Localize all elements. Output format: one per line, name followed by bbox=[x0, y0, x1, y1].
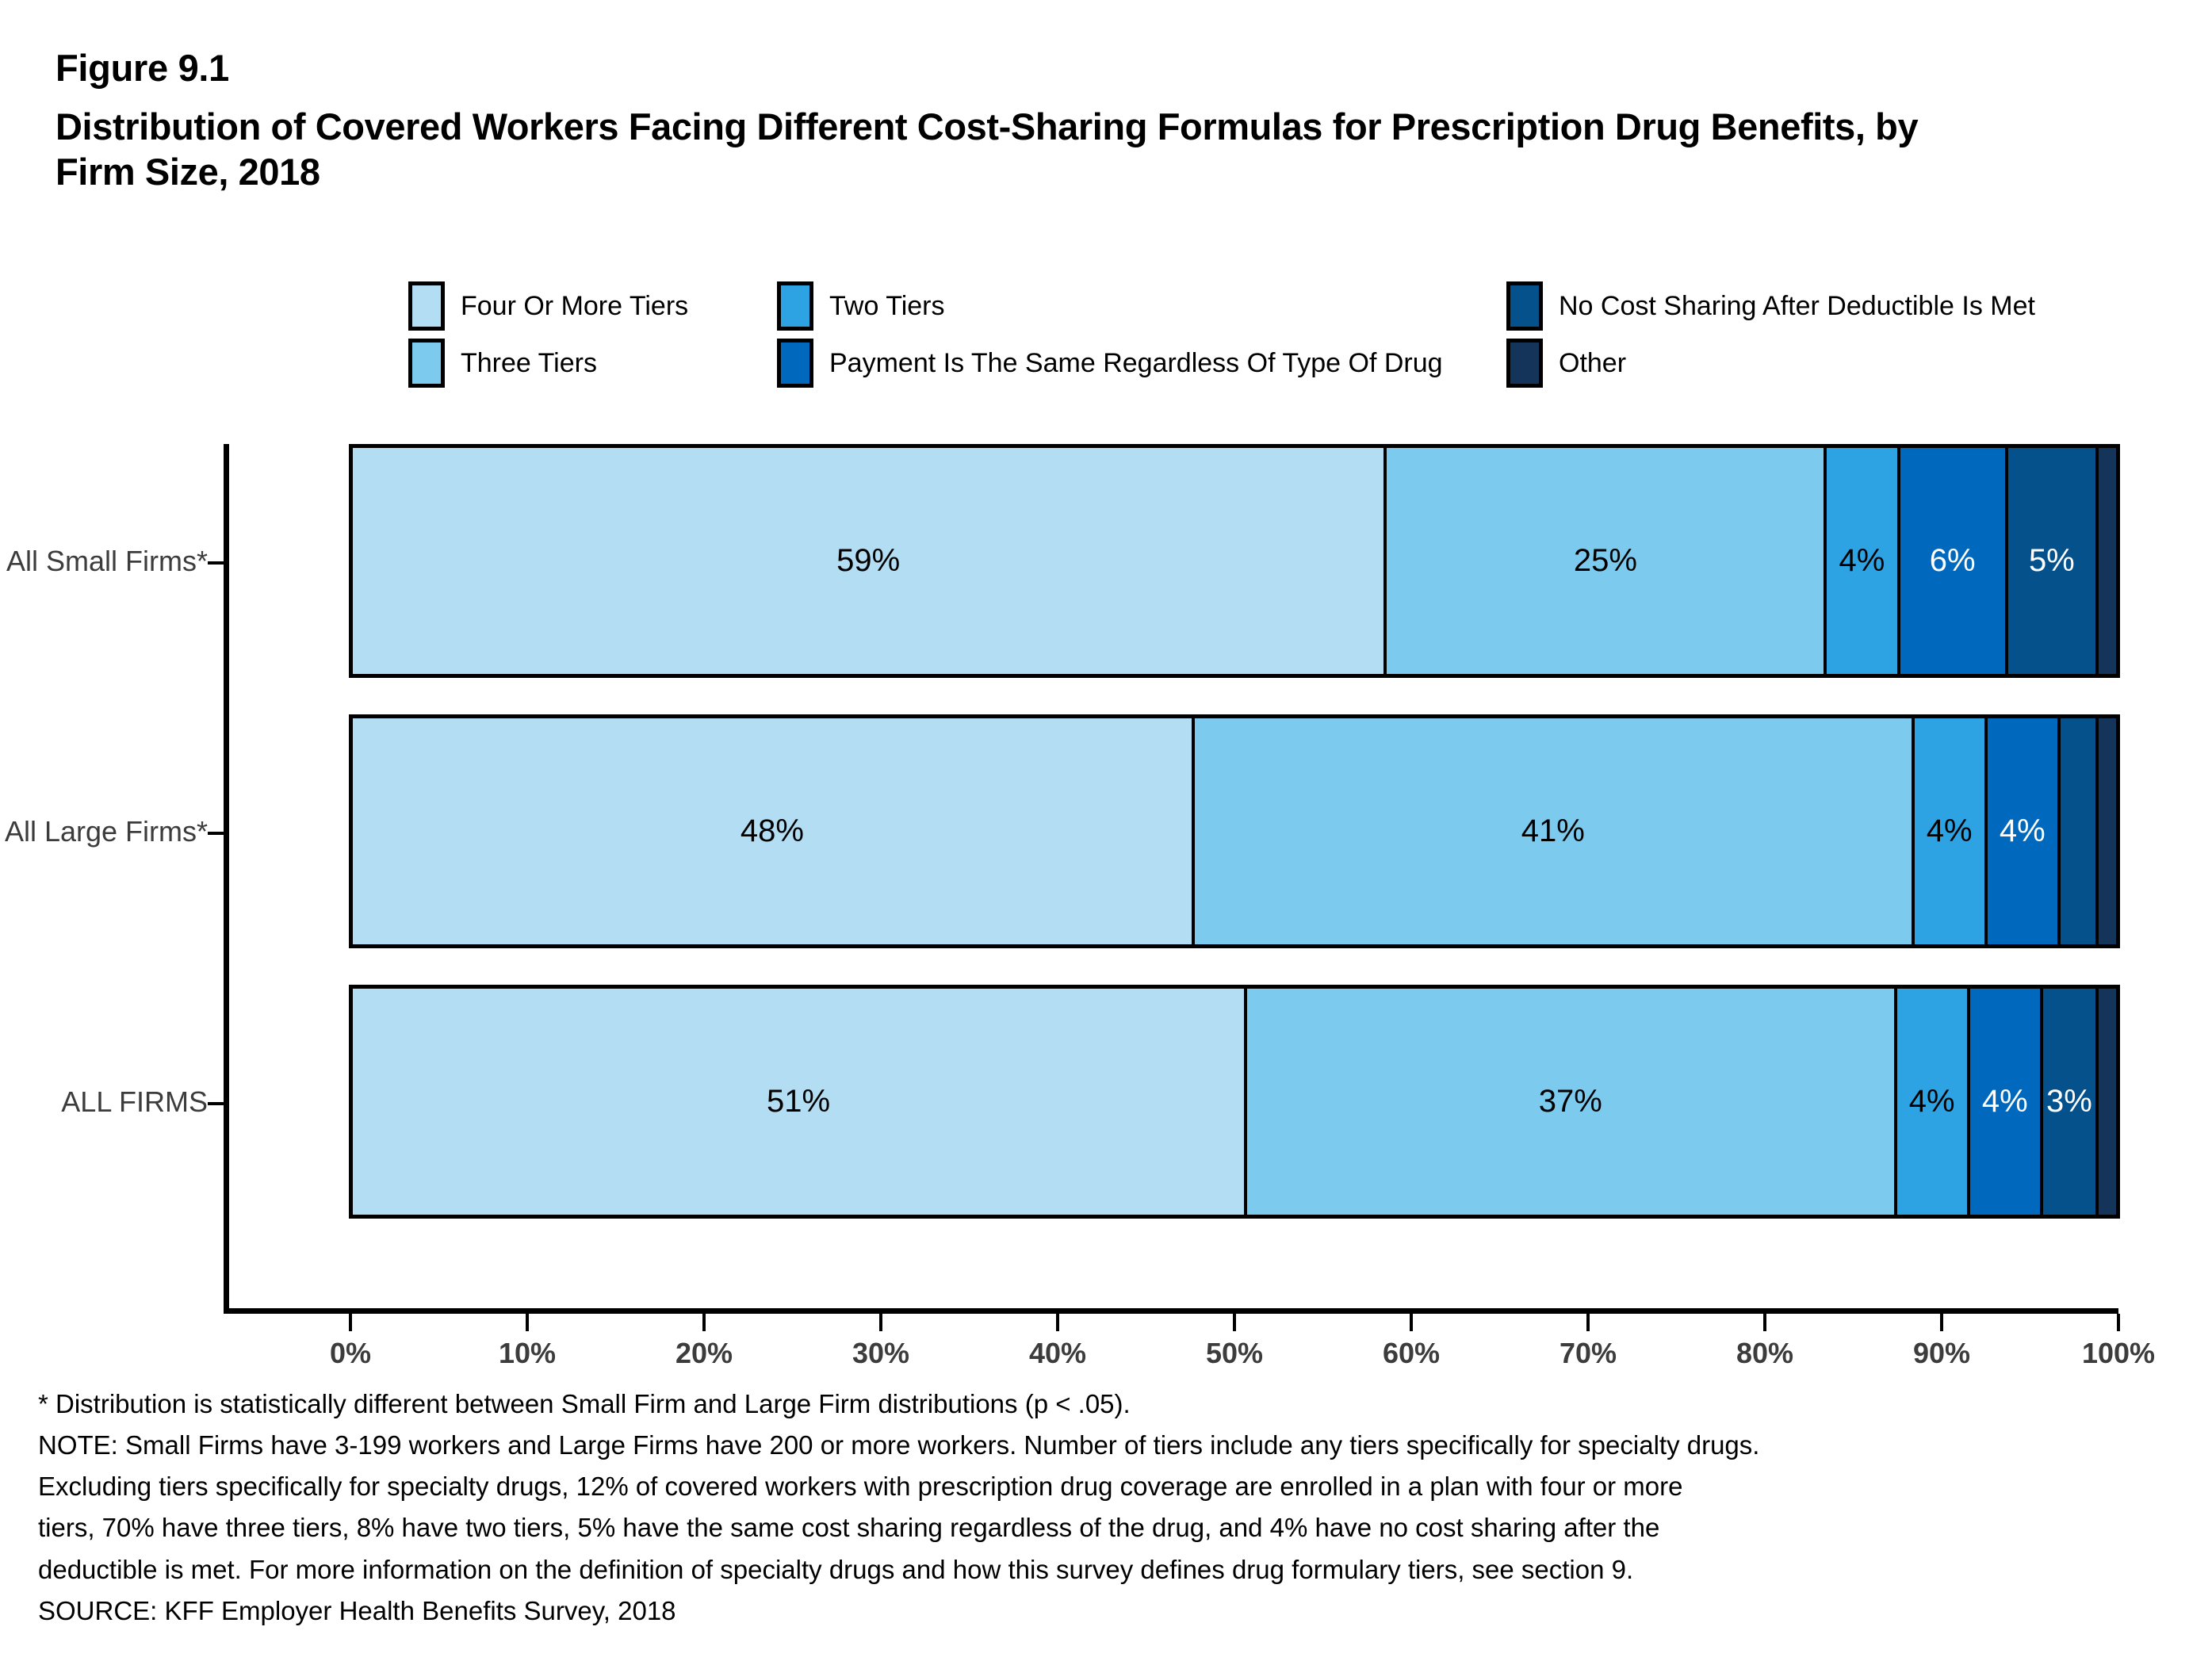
x-axis-line bbox=[224, 1308, 2118, 1314]
bar-segment: 6% bbox=[1900, 448, 2008, 674]
bar-segment-value-label: 59% bbox=[836, 543, 900, 579]
x-axis-tick-label: 90% bbox=[1913, 1337, 1970, 1370]
legend-item[interactable]: Four Or More Tiers bbox=[408, 281, 777, 331]
legend-swatch-icon bbox=[777, 339, 813, 388]
bar-segment: 4% bbox=[1827, 448, 1900, 674]
bar-segment-value-label: 51% bbox=[767, 1084, 830, 1120]
bar-segment: 4% bbox=[1897, 989, 1970, 1215]
x-axis-tick bbox=[1410, 1314, 1413, 1331]
bar-segment: 37% bbox=[1247, 989, 1896, 1215]
footnote-note-4: deductible is met. For more information … bbox=[38, 1549, 2179, 1590]
bar-segment-value-label: 4% bbox=[1927, 813, 1973, 849]
chart-plot-area: All Small Firms*59%25%4%6%5%All Large Fi… bbox=[0, 428, 2212, 1300]
y-axis-category-label: All Large Firms* bbox=[5, 815, 208, 848]
bar-segment-value-label: 4% bbox=[1909, 1084, 1955, 1120]
bar-segment bbox=[2099, 989, 2116, 1215]
stacked-bar: 59%25%4%6%5% bbox=[349, 444, 2120, 678]
x-axis-tick bbox=[1586, 1314, 1590, 1331]
bar-segment-value-label: 4% bbox=[1982, 1084, 2028, 1120]
legend-item-label: Four Or More Tiers bbox=[461, 281, 688, 331]
legend-item[interactable]: No Cost Sharing After Deductible Is Met bbox=[1506, 281, 2109, 331]
bar-segment-value-label: 48% bbox=[741, 813, 804, 849]
x-axis-tick-label: 10% bbox=[499, 1337, 556, 1370]
bar-segment bbox=[2099, 718, 2116, 944]
x-axis-tick-label: 50% bbox=[1206, 1337, 1263, 1370]
bar-segment: 4% bbox=[1970, 989, 2043, 1215]
x-axis-tick bbox=[526, 1314, 529, 1331]
x-axis-tick-label: 0% bbox=[330, 1337, 371, 1370]
bar-segment-value-label: 6% bbox=[1930, 543, 1976, 579]
legend-swatch-icon bbox=[777, 281, 813, 331]
y-axis-tick bbox=[208, 1102, 225, 1105]
bar-segment-value-label: 3% bbox=[2046, 1084, 2092, 1120]
legend-item[interactable]: Two Tiers bbox=[777, 281, 1506, 331]
bar-segment: 3% bbox=[2043, 989, 2099, 1215]
y-axis-line bbox=[224, 444, 229, 1312]
legend-item-label: Other bbox=[1559, 339, 1626, 388]
bar-segment-value-label: 4% bbox=[2000, 813, 2046, 849]
bar-segment-value-label: 5% bbox=[2029, 543, 2075, 579]
figure-number: Figure 9.1 bbox=[55, 49, 2117, 86]
bar-segment: 4% bbox=[1988, 718, 2061, 944]
x-axis-tick-label: 30% bbox=[852, 1337, 909, 1370]
footnote-note-1: NOTE: Small Firms have 3-199 workers and… bbox=[38, 1425, 2179, 1466]
x-axis-tick-label: 80% bbox=[1736, 1337, 1793, 1370]
x-axis-tick bbox=[1233, 1314, 1236, 1331]
bar-segment-value-label: 25% bbox=[1574, 543, 1637, 579]
footnote-significance: * Distribution is statistically differen… bbox=[38, 1384, 2179, 1425]
bar-segment: 4% bbox=[1915, 718, 1988, 944]
stacked-bar: 51%37%4%4%3% bbox=[349, 985, 2120, 1219]
y-axis-category-label: ALL FIRMS bbox=[61, 1085, 208, 1119]
legend-item-label: Three Tiers bbox=[461, 339, 597, 388]
bar-segment: 25% bbox=[1387, 448, 1827, 674]
footnote-note-3: tiers, 70% have three tiers, 8% have two… bbox=[38, 1507, 2179, 1548]
legend-swatch-icon bbox=[1506, 339, 1543, 388]
x-axis-tick bbox=[349, 1314, 352, 1331]
bar-segment-value-label: 41% bbox=[1521, 813, 1585, 849]
y-axis-tick bbox=[208, 832, 225, 835]
x-axis-tick bbox=[1940, 1314, 1943, 1331]
page-title: Distribution of Covered Workers Facing D… bbox=[55, 104, 1998, 195]
x-axis-tick bbox=[702, 1314, 706, 1331]
x-axis-tick-label: 100% bbox=[2082, 1337, 2155, 1370]
title-block: Figure 9.1 Distribution of Covered Worke… bbox=[55, 49, 2117, 195]
footnotes: * Distribution is statistically differen… bbox=[38, 1384, 2179, 1632]
bar-segment: 5% bbox=[2008, 448, 2099, 674]
x-axis-tick bbox=[2117, 1314, 2120, 1331]
bar-segment-value-label: 37% bbox=[1539, 1084, 1602, 1120]
x-axis-tick-label: 40% bbox=[1029, 1337, 1086, 1370]
chart-legend: Four Or More TiersTwo TiersNo Cost Shari… bbox=[408, 281, 2153, 396]
x-axis-tick bbox=[1763, 1314, 1766, 1331]
x-axis-tick-label: 60% bbox=[1383, 1337, 1440, 1370]
bar-segment: 51% bbox=[353, 989, 1247, 1215]
stacked-bar: 48%41%4%4% bbox=[349, 714, 2120, 948]
x-axis-tick bbox=[1056, 1314, 1059, 1331]
y-axis-category-label: All Small Firms* bbox=[6, 545, 208, 578]
bar-segment bbox=[2099, 448, 2116, 674]
legend-item-label: Payment Is The Same Regardless Of Type O… bbox=[829, 339, 1443, 388]
legend-swatch-icon bbox=[1506, 281, 1543, 331]
legend-swatch-icon bbox=[408, 339, 445, 388]
legend-swatch-icon bbox=[408, 281, 445, 331]
legend-item[interactable]: Payment Is The Same Regardless Of Type O… bbox=[777, 339, 1506, 388]
x-axis-tick bbox=[879, 1314, 882, 1331]
footnote-source: SOURCE: KFF Employer Health Benefits Sur… bbox=[38, 1590, 2179, 1632]
legend-item-label: Two Tiers bbox=[829, 281, 944, 331]
x-axis-tick-label: 70% bbox=[1559, 1337, 1617, 1370]
legend-item-label: No Cost Sharing After Deductible Is Met bbox=[1559, 281, 2035, 331]
y-axis-tick bbox=[208, 561, 225, 565]
legend-item[interactable]: Other bbox=[1506, 339, 2109, 388]
footnote-note-2: Excluding tiers specifically for special… bbox=[38, 1466, 2179, 1507]
bar-segment-value-label: 4% bbox=[1839, 543, 1885, 579]
x-axis-tick-label: 20% bbox=[675, 1337, 733, 1370]
bar-segment: 59% bbox=[353, 448, 1387, 674]
bar-segment bbox=[2061, 718, 2099, 944]
legend-item[interactable]: Three Tiers bbox=[408, 339, 777, 388]
bar-segment: 48% bbox=[353, 718, 1195, 944]
bar-segment: 41% bbox=[1195, 718, 1915, 944]
